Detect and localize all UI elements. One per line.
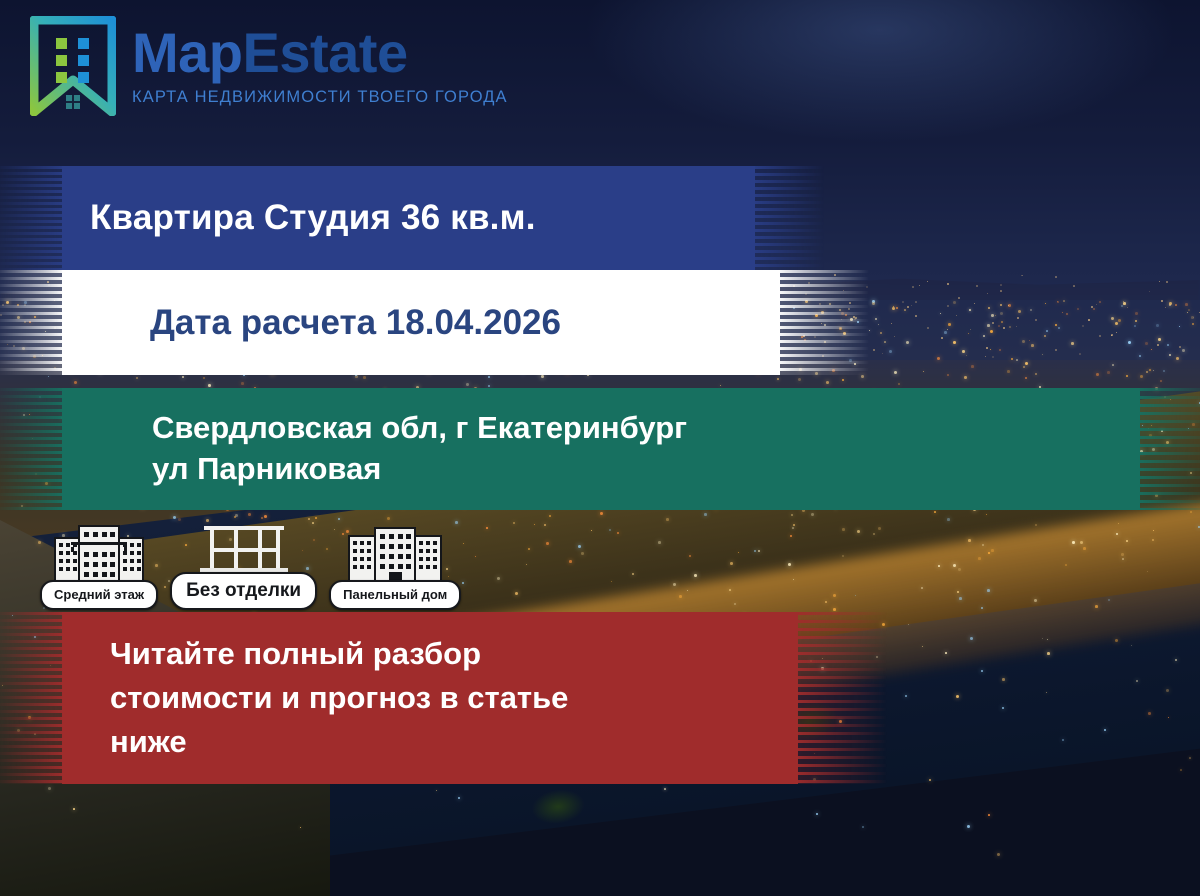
address-band: Свердловская обл, г Екатеринбург ул Парн…	[62, 388, 1140, 510]
cta-line-3: ниже	[110, 720, 798, 764]
badge-no-finishing[interactable]: Без отделки	[170, 512, 317, 610]
feature-badges: Средний этаж	[40, 512, 461, 610]
middle-floor-buildings-icon	[49, 520, 149, 586]
badge-label: Средний этаж	[40, 580, 158, 610]
brand-tagline: КАРТА НЕДВИЖИМОСТИ ТВОЕГО ГОРОДА	[132, 88, 508, 107]
panel-house-building-icon	[343, 520, 447, 586]
badge-middle-floor[interactable]: Средний этаж	[40, 520, 158, 610]
calculation-date: Дата расчета 18.04.2026	[62, 303, 780, 343]
date-band: Дата расчета 18.04.2026	[62, 270, 780, 375]
badge-label: Без отделки	[170, 572, 317, 610]
address-line-1: Свердловская обл, г Екатеринбург	[152, 408, 1140, 449]
cta-text: Читайте полный разбор стоимости и прогно…	[62, 632, 798, 764]
title-band: Квартира Студия 36 кв.м.	[62, 166, 755, 270]
brand-name-part1: Map	[132, 21, 243, 84]
address-line-2: ул Парниковая	[152, 449, 1140, 490]
brand-logo[interactable]: MapEstate КАРТА НЕДВИЖИМОСТИ ТВОЕГО ГОРО…	[30, 16, 508, 116]
cta-band[interactable]: Читайте полный разбор стоимости и прогно…	[62, 612, 798, 784]
badge-label: Панельный дом	[329, 580, 461, 610]
bookmark-building-logo-icon	[30, 16, 116, 116]
brand-name: MapEstate	[132, 25, 508, 81]
bare-frame-unfinished-icon	[190, 512, 298, 578]
cta-line-1: Читайте полный разбор	[110, 632, 798, 676]
brand-wordmark: MapEstate КАРТА НЕДВИЖИМОСТИ ТВОЕГО ГОРО…	[132, 25, 508, 107]
address-text: Свердловская обл, г Екатеринбург ул Парн…	[62, 408, 1140, 490]
cta-line-2: стоимости и прогноз в статье	[110, 676, 798, 720]
brand-name-part2: Estate	[243, 21, 408, 84]
listing-promo-card: MapEstate КАРТА НЕДВИЖИМОСТИ ТВОЕГО ГОРО…	[0, 0, 1200, 896]
badge-panel-house[interactable]: Панельный дом	[329, 520, 461, 610]
listing-title: Квартира Студия 36 кв.м.	[62, 198, 755, 238]
